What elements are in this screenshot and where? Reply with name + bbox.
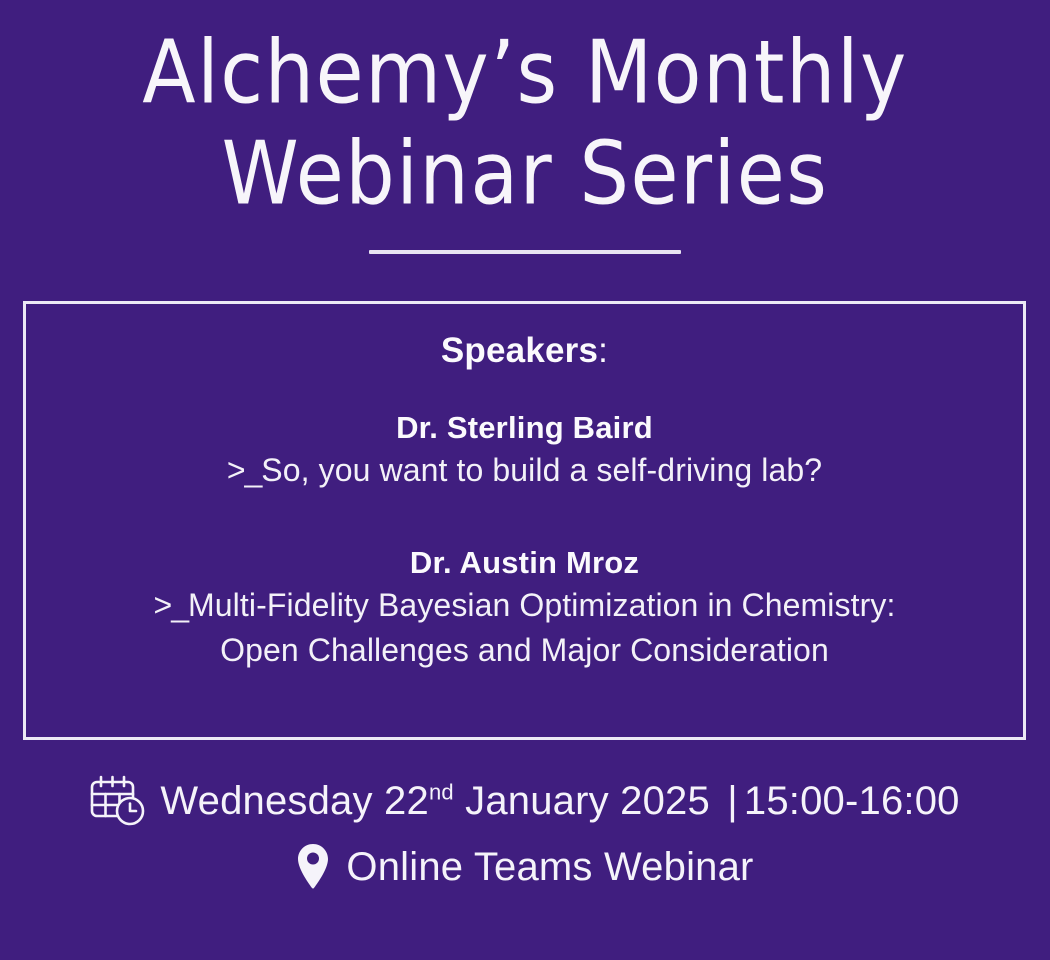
event-datetime-row: Wednesday 22nd January 2025 |15:00-16:00	[0, 775, 1050, 827]
map-pin-icon	[296, 843, 330, 891]
event-day-of-week: Wednesday	[160, 779, 372, 823]
poster-header: Alchemy’s Monthly Webinar Series	[0, 0, 1050, 254]
event-month-year: January 2025	[465, 779, 710, 823]
page-title-line-2: Webinar Series	[0, 123, 1050, 227]
webinar-poster: Alchemy’s Monthly Webinar Series Speaker…	[0, 0, 1050, 960]
event-datetime-text: Wednesday 22nd January 2025 |15:00-16:00	[160, 775, 959, 827]
speaker-entry-1: Dr. Sterling Baird >_So, you want to bui…	[26, 408, 1023, 493]
terminal-prompt-icon-1: >_	[227, 452, 261, 488]
speaker-talk-title-2-line-1: >_Multi-Fidelity Bayesian Optimization i…	[40, 583, 1009, 628]
speakers-heading-label: Speakers	[441, 331, 598, 370]
event-detail-separator: |	[721, 779, 744, 823]
page-title-line-1: Alchemy’s Monthly	[0, 22, 1050, 126]
event-time-range: 15:00-16:00	[744, 779, 960, 823]
event-day-ordinal: nd	[429, 780, 454, 805]
event-day-number: 22	[384, 779, 429, 823]
speaker-name-1: Dr. Sterling Baird	[26, 408, 1023, 448]
speakers-heading: Speakers:	[26, 330, 1023, 372]
speakers-panel: Speakers: Dr. Sterling Baird >_So, you w…	[23, 301, 1026, 740]
speaker-talk-title-1: So, you want to build a self-driving lab…	[261, 452, 822, 488]
event-venue-text: Online Teams Webinar	[346, 841, 753, 893]
speaker-talk-2: >_Multi-Fidelity Bayesian Optimization i…	[26, 583, 1023, 673]
title-divider	[369, 250, 681, 254]
speaker-talk-1: >_So, you want to build a self-driving l…	[26, 448, 1023, 493]
speaker-talk-title-2-part-1: Multi-Fidelity Bayesian Optimization in …	[188, 587, 895, 623]
event-details: Wednesday 22nd January 2025 |15:00-16:00…	[0, 775, 1050, 893]
speaker-talk-title-2-line-2: Open Challenges and Major Consideration	[40, 628, 1009, 673]
speaker-entry-2: Dr. Austin Mroz >_Multi-Fidelity Bayesia…	[26, 543, 1023, 673]
event-venue-row: Online Teams Webinar	[0, 841, 1050, 893]
speaker-name-2: Dr. Austin Mroz	[26, 543, 1023, 583]
speakers-heading-colon: :	[598, 331, 608, 370]
calendar-clock-icon	[90, 775, 146, 827]
terminal-prompt-icon-2: >_	[154, 587, 188, 623]
